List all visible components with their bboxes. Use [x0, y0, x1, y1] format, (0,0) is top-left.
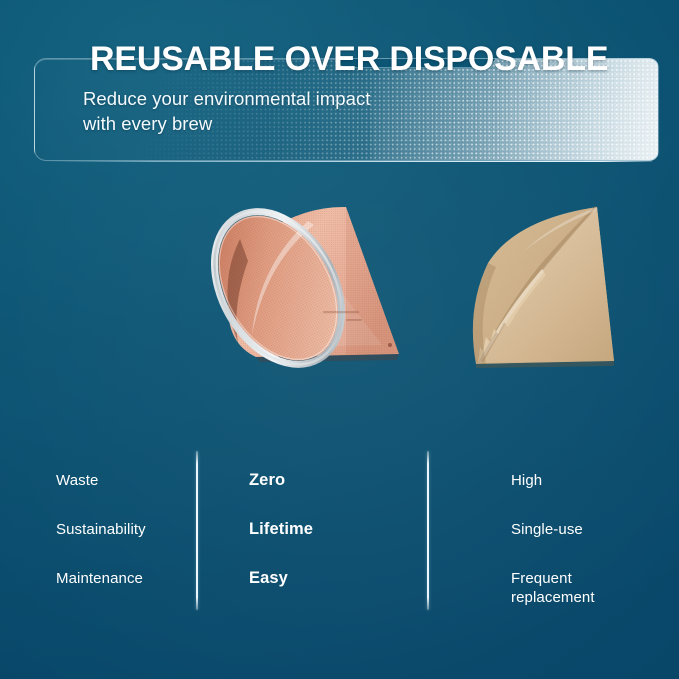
- page-subtitle: Reduce your environmental impact with ev…: [83, 86, 370, 136]
- comparison-table: Waste Sustainability Maintenance Zero Li…: [0, 430, 679, 630]
- table-row: Single-use: [511, 520, 583, 539]
- column-divider-2: [427, 451, 429, 610]
- column-divider-1: [196, 451, 198, 610]
- table-row: Maintenance: [56, 569, 143, 588]
- table-row: Waste: [56, 471, 98, 490]
- disposable-paper-cone-filter: [464, 201, 634, 376]
- table-row: Zero: [249, 471, 285, 490]
- table-row: Sustainability: [56, 520, 146, 539]
- table-row: Lifetime: [249, 520, 313, 539]
- table-row: Easy: [249, 569, 288, 588]
- reusable-metal-cone-filter: [196, 195, 416, 380]
- banner-underline: [44, 161, 652, 162]
- table-row: Frequent replacement: [511, 569, 595, 607]
- page-title: REUSABLE OVER DISPOSABLE: [90, 40, 608, 79]
- subtitle-line-2: with every brew: [83, 111, 370, 136]
- product-stage: [0, 185, 679, 400]
- table-row: High: [511, 471, 542, 490]
- subtitle-line-1: Reduce your environmental impact: [83, 86, 370, 111]
